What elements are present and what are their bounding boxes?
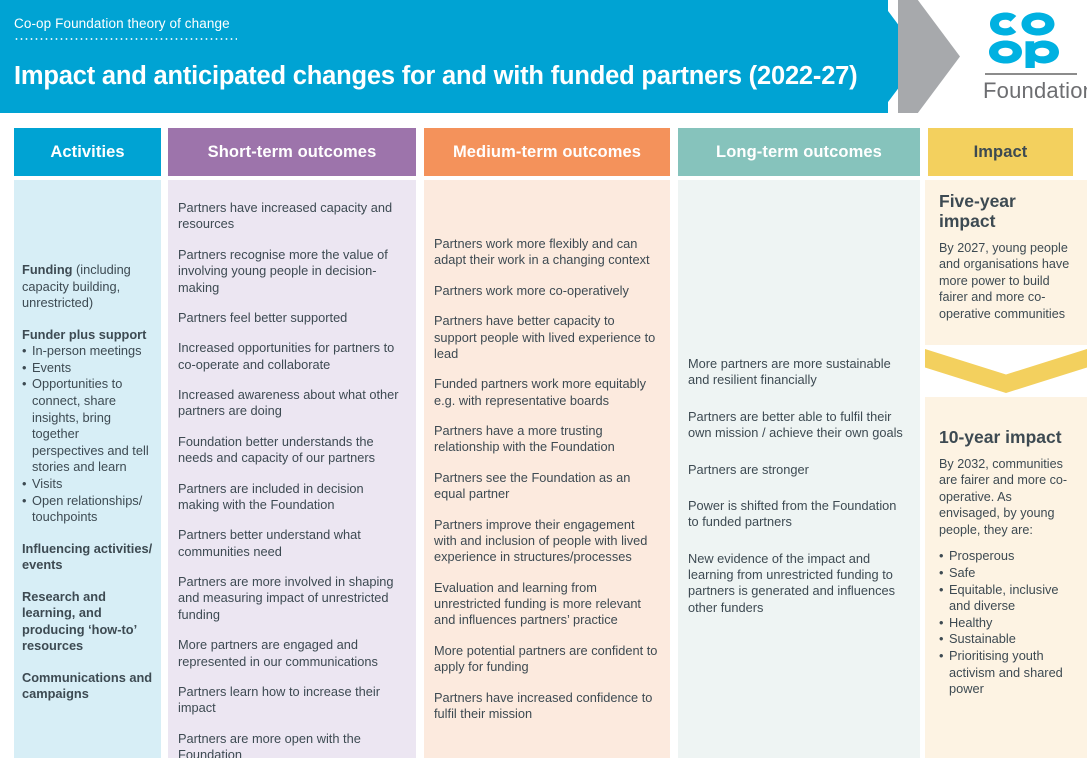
outcome-item: New evidence of the impact and learning … <box>688 551 910 617</box>
outcome-item: Partners see the Foundation as an equal … <box>434 470 660 503</box>
impact-chevron-icon <box>925 349 1087 393</box>
column-body-medium-term: Partners work more flexibly and can adap… <box>424 180 670 758</box>
outcome-item: Partners work more co-operatively <box>434 283 660 299</box>
outcome-item: Partners better understand what communit… <box>178 527 406 560</box>
list-item: Opportunities to connect, share insights… <box>22 376 153 476</box>
activity-block-title-bold: Funding <box>22 262 72 277</box>
list-item: Prioritising youth activism and shared p… <box>939 648 1073 698</box>
column-header-long-term: Long-term outcomes <box>678 128 920 176</box>
column-body-short-term: Partners have increased capacity and res… <box>168 180 416 758</box>
outcome-item: More partners are more sustainable and r… <box>688 356 910 389</box>
impact-ten-year-heading: 10-year impact <box>939 428 1073 448</box>
outcome-item: Partners work more flexibly and can adap… <box>434 236 660 269</box>
outcome-item: Funded partners work more equitably e.g.… <box>434 376 660 409</box>
column-title-medium-term: Medium-term outcomes <box>453 143 641 162</box>
column-body-activities: Funding (including capacity building, un… <box>14 180 161 758</box>
list-item: Sustainable <box>939 631 1073 648</box>
list-item: Healthy <box>939 615 1073 632</box>
activity-bullet-list: In-person meetings Events Opportunities … <box>22 343 153 526</box>
impact-five-year-heading: Five-year impact <box>939 192 1073 232</box>
activity-block: Research and learning, and producing ‘ho… <box>22 589 153 655</box>
activity-block-title-bold: Funder plus support <box>22 327 146 342</box>
outcome-item: More partners are engaged and represente… <box>178 637 406 670</box>
activity-block-title: Funding (including capacity building, un… <box>22 262 153 312</box>
impact-card-five-year: Five-year impact By 2027, young people a… <box>925 180 1087 345</box>
outcome-item: Partners are better able to fulfil their… <box>688 409 910 442</box>
activity-block: Funder plus support In-person meetings E… <box>22 327 153 526</box>
theory-of-change-grid: Activities Short-term outcomes Medium-te… <box>0 0 1087 783</box>
activity-block: Communications and campaigns <box>22 670 153 703</box>
list-item: Prosperous <box>939 548 1073 565</box>
outcome-item: Partners recognise more the value of inv… <box>178 247 406 296</box>
column-title-long-term: Long-term outcomes <box>716 143 882 162</box>
outcome-item: More potential partners are confident to… <box>434 643 660 676</box>
outcome-item: Increased opportunities for partners to … <box>178 340 406 373</box>
impact-card-ten-year: 10-year impact By 2032, communities are … <box>925 397 1087 758</box>
column-header-medium-term: Medium-term outcomes <box>424 128 670 176</box>
outcome-item: Partners are stronger <box>688 462 910 478</box>
column-title-activities: Activities <box>50 143 124 162</box>
outcome-item: Power is shifted from the Foundation to … <box>688 498 910 531</box>
activity-block: Influencing activities/ events <box>22 541 153 574</box>
outcome-item: Partners are more open with the Foundati… <box>178 731 406 758</box>
column-header-impact: Impact <box>928 128 1073 176</box>
outcome-item: Foundation better understands the needs … <box>178 434 406 467</box>
column-title-short-term: Short-term outcomes <box>208 143 377 162</box>
activity-block: Funding (including capacity building, un… <box>22 262 153 312</box>
impact-five-year-body: By 2027, young people and organisations … <box>939 240 1073 322</box>
outcome-item: Partners are more involved in shaping an… <box>178 574 406 623</box>
column-header-short-term: Short-term outcomes <box>168 128 416 176</box>
outcome-item: Partners are included in decision making… <box>178 481 406 514</box>
list-item: Safe <box>939 565 1073 582</box>
activity-block-title: Research and learning, and producing ‘ho… <box>22 589 153 655</box>
outcome-item: Partners feel better supported <box>178 310 406 326</box>
outcome-item: Partners have increased capacity and res… <box>178 200 406 233</box>
list-item: In-person meetings <box>22 343 153 360</box>
list-item: Visits <box>22 476 153 493</box>
column-body-long-term: More partners are more sustainable and r… <box>678 180 920 758</box>
outcome-item: Increased awareness about what other par… <box>178 387 406 420</box>
list-item: Open relationships/ touchpoints <box>22 493 153 526</box>
outcome-item: Partners have increased confidence to fu… <box>434 690 660 723</box>
impact-ten-year-body: By 2032, communities are fairer and more… <box>939 456 1073 538</box>
outcome-item: Partners improve their engagement with a… <box>434 517 660 566</box>
activity-block-title: Communications and campaigns <box>22 670 153 703</box>
outcome-item: Partners have better capacity to support… <box>434 313 660 362</box>
list-item: Events <box>22 360 153 377</box>
outcome-item: Evaluation and learning from unrestricte… <box>434 580 660 629</box>
activity-block-title: Funder plus support <box>22 327 153 344</box>
column-title-impact: Impact <box>974 143 1028 162</box>
list-item: Equitable, inclusive and diverse <box>939 582 1073 615</box>
activity-block-title: Influencing activities/ events <box>22 541 153 574</box>
column-header-activities: Activities <box>14 128 161 176</box>
outcome-item: Partners learn how to increase their imp… <box>178 684 406 717</box>
impact-bullet-list: Prosperous Safe Equitable, inclusive and… <box>939 548 1073 698</box>
outcome-item: Partners have a more trusting relationsh… <box>434 423 660 456</box>
